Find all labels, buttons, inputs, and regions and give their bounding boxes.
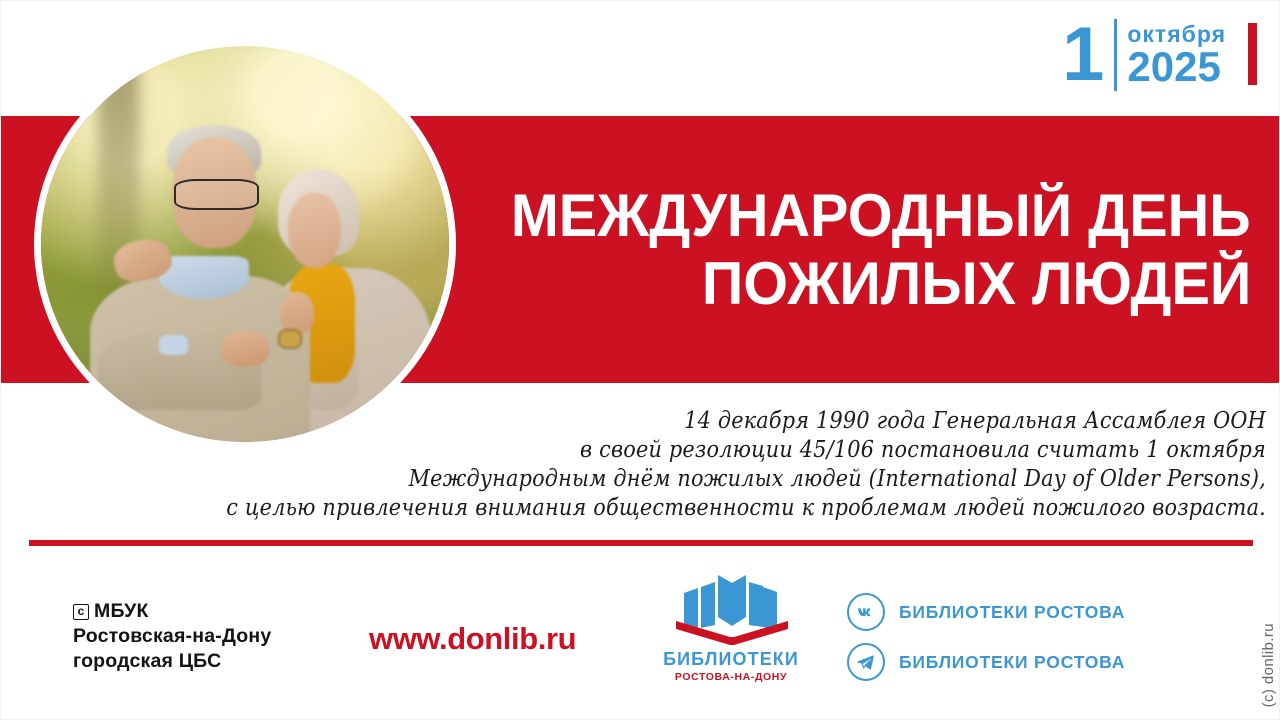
open-book-icon xyxy=(668,571,796,649)
page-title: МЕЖДУНАРОДНЫЙ ДЕНЬ ПОЖИЛЫХ ЛЮДЕЙ xyxy=(471,116,1261,383)
photo-illustration xyxy=(41,46,449,442)
social-label-telegram: БИБЛИОТЕКИ РОСТОВА xyxy=(899,652,1125,673)
elderly-couple-photo xyxy=(34,39,456,449)
organization-name: cМБУК Ростовская-на-Дону городская ЦБС xyxy=(73,599,271,674)
man-hand xyxy=(221,331,270,367)
website-link[interactable]: www.donlib.ru xyxy=(369,621,576,657)
description-line-3: Международным днём пожилых людей (Intern… xyxy=(132,462,1266,494)
organization-line-1: cМБУК xyxy=(73,599,271,624)
date-red-bar xyxy=(1248,23,1257,85)
logo-name: БИБЛИОТЕКИ xyxy=(646,649,816,670)
telegram-glyph xyxy=(855,651,877,673)
library-logo: БИБЛИОТЕКИ РОСТОВА-НА-ДОНУ xyxy=(646,571,816,706)
footer: cМБУК Ростовская-на-Дону городская ЦБС w… xyxy=(1,561,1280,720)
date-month-year: октября 2025 xyxy=(1114,19,1226,91)
social-label-vk: БИБЛИОТЕКИ РОСТОВА xyxy=(899,602,1125,623)
title-line-2: ПОЖИЛЫХ ЛЮДЕЙ xyxy=(702,250,1251,317)
event-date-block: 1 октября 2025 xyxy=(1062,19,1257,91)
man-glasses xyxy=(174,179,260,211)
telegram-icon[interactable] xyxy=(847,643,885,681)
social-link-telegram[interactable]: БИБЛИОТЕКИ РОСТОВА xyxy=(847,643,1125,681)
man-shirt-cuff xyxy=(159,335,188,355)
date-year: 2025 xyxy=(1127,46,1226,88)
description-line-4: с целью привлечения внимания общественно… xyxy=(132,491,1266,523)
credit-watermark: (c) donlib.ru xyxy=(1260,623,1277,707)
logo-subtitle: РОСТОВА-НА-ДОНУ xyxy=(646,671,816,683)
vk-icon[interactable] xyxy=(847,593,885,631)
poster-canvas: 1 октября 2025 МЕЖДУНАРОДНЫЙ ДЕНЬ ПОЖИЛЫ… xyxy=(0,0,1280,720)
vk-glyph xyxy=(855,601,877,623)
title-line-1: МЕЖДУНАРОДНЫЙ ДЕНЬ xyxy=(511,182,1251,249)
copyright-icon: c xyxy=(73,604,89,620)
organization-line-3: городская ЦБС xyxy=(73,649,271,674)
date-day: 1 xyxy=(1062,19,1104,91)
organization-label: МБУК xyxy=(94,600,149,622)
horizontal-divider xyxy=(29,540,1253,546)
organization-line-2: Ростовская-на-Дону xyxy=(73,624,271,649)
social-links: БИБЛИОТЕКИ РОСТОВА БИБЛИОТЕКИ РОСТОВА xyxy=(847,593,1125,693)
social-link-vk[interactable]: БИБЛИОТЕКИ РОСТОВА xyxy=(847,593,1125,631)
woman-wristwatch xyxy=(278,329,302,349)
woman-face xyxy=(288,193,341,268)
